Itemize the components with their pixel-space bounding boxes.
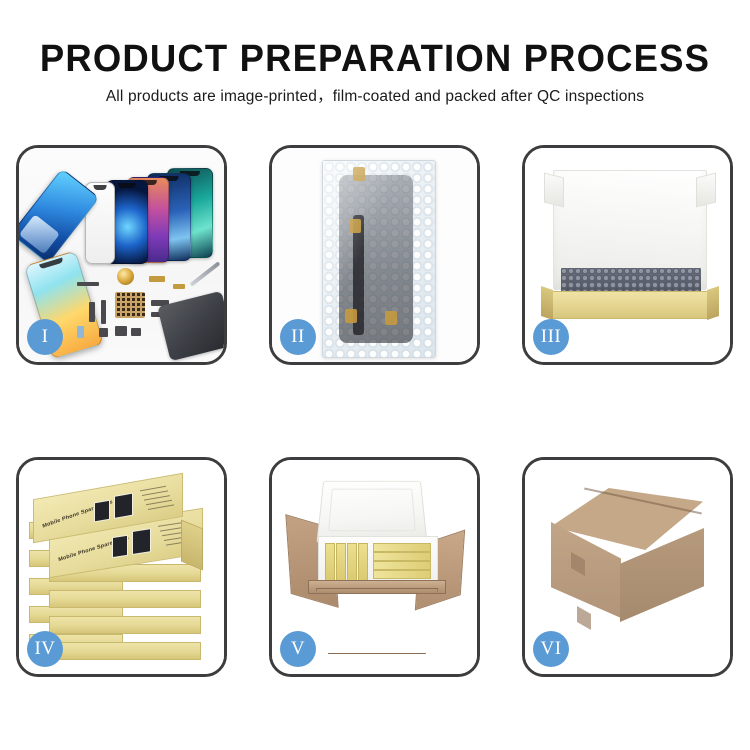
step-panel-1: I — [16, 145, 227, 365]
page-title: PRODUCT PREPARATION PROCESS — [15, 38, 735, 80]
spare-parts-cluster — [77, 266, 225, 352]
yellow-mailer-box-base — [549, 291, 711, 319]
step-badge-6: VI — [533, 631, 569, 667]
step-badge-5: V — [280, 631, 316, 667]
step-panel-2: II — [269, 145, 480, 365]
phone-screen-lineup — [81, 166, 226, 271]
step-panel-3: III — [522, 145, 733, 365]
step-panel-4: Mobile Phone Spare Parts Mobile Phone Sp… — [16, 457, 227, 677]
chip-grid-icon — [115, 292, 145, 318]
step-panel-6: VI — [522, 457, 733, 677]
step-panel-5: V — [269, 457, 480, 677]
step-badge-4: IV — [27, 631, 63, 667]
step-badge-2: II — [280, 319, 316, 355]
foam-box-lid — [316, 481, 427, 543]
screwdriver-icon — [190, 261, 221, 286]
vibration-motor-icon — [117, 268, 134, 285]
product-preparation-infographic: PRODUCT PREPARATION PROCESS All products… — [0, 0, 750, 750]
page-subtitle: All products are image-printed，film-coat… — [0, 87, 750, 107]
bubble-wrap-bag — [322, 160, 436, 358]
process-steps-grid: I II — [16, 145, 734, 727]
carton-front-wall — [316, 588, 438, 654]
header: PRODUCT PREPARATION PROCESS All products… — [0, 38, 750, 107]
step-badge-3: III — [533, 319, 569, 355]
step-badge-1: I — [27, 319, 63, 355]
